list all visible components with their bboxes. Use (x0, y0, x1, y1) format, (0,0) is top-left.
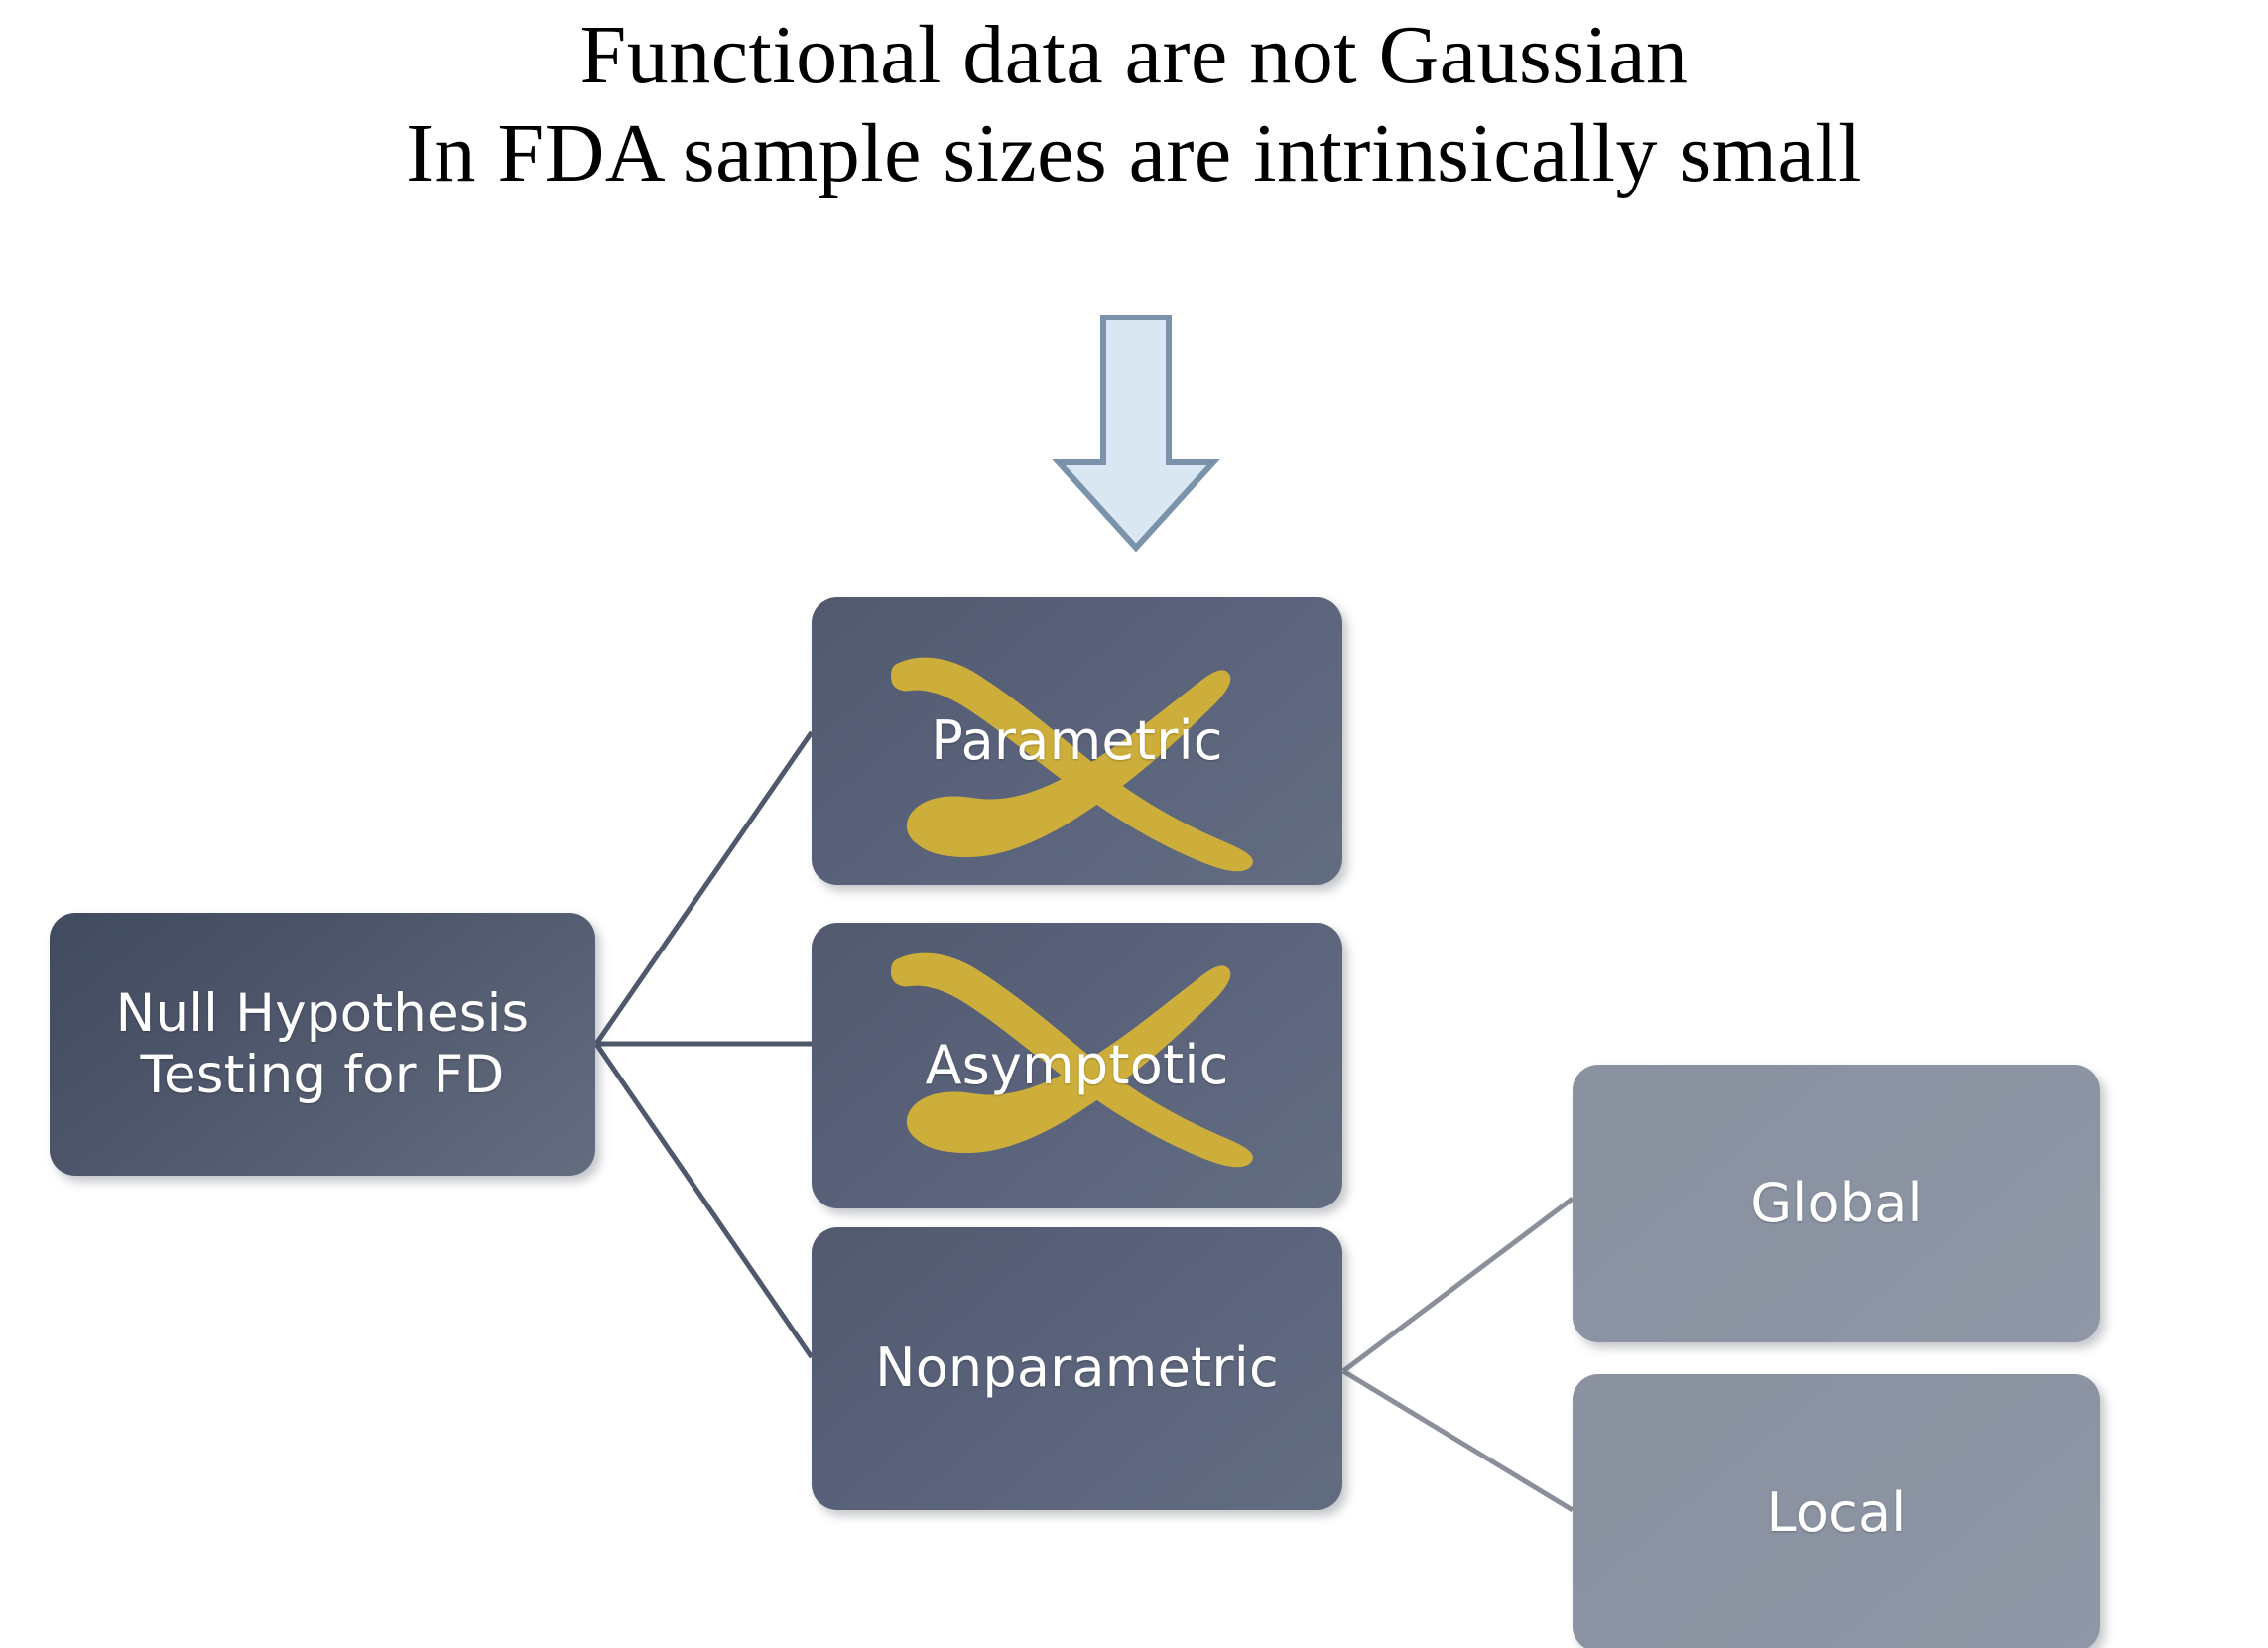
edge-nonparametric-global (1343, 1199, 1573, 1371)
title-line-1: Functional data are not Gaussian (0, 6, 2268, 104)
node-label: Asymptotic (912, 1035, 1243, 1097)
slide-title: Functional data are not Gaussian In FDA … (0, 6, 2268, 202)
title-line-2: In FDA sample sizes are intrinsically sm… (0, 104, 2268, 202)
node-local[interactable]: Local (1573, 1374, 2100, 1648)
edge-nonparametric-local (1343, 1371, 1573, 1510)
node-label: Global (1736, 1173, 1936, 1235)
node-label: Parametric (917, 710, 1236, 773)
node-label: Null HypothesisTesting for FD (102, 983, 544, 1105)
down-arrow-icon (1052, 314, 1220, 552)
node-asymptotic[interactable]: Asymptotic (812, 923, 1342, 1208)
node-null-hypothesis-testing[interactable]: Null HypothesisTesting for FD (50, 913, 595, 1176)
node-nonparametric[interactable]: Nonparametric (812, 1227, 1342, 1510)
node-label: Local (1753, 1482, 1921, 1545)
node-global[interactable]: Global (1573, 1065, 2100, 1342)
node-label: Nonparametric (861, 1337, 1293, 1400)
edge-root-nonparametric (596, 1044, 812, 1357)
node-parametric[interactable]: Parametric (812, 597, 1342, 885)
slide-canvas: Functional data are not Gaussian In FDA … (0, 0, 2268, 1648)
edge-root-parametric (596, 732, 812, 1044)
